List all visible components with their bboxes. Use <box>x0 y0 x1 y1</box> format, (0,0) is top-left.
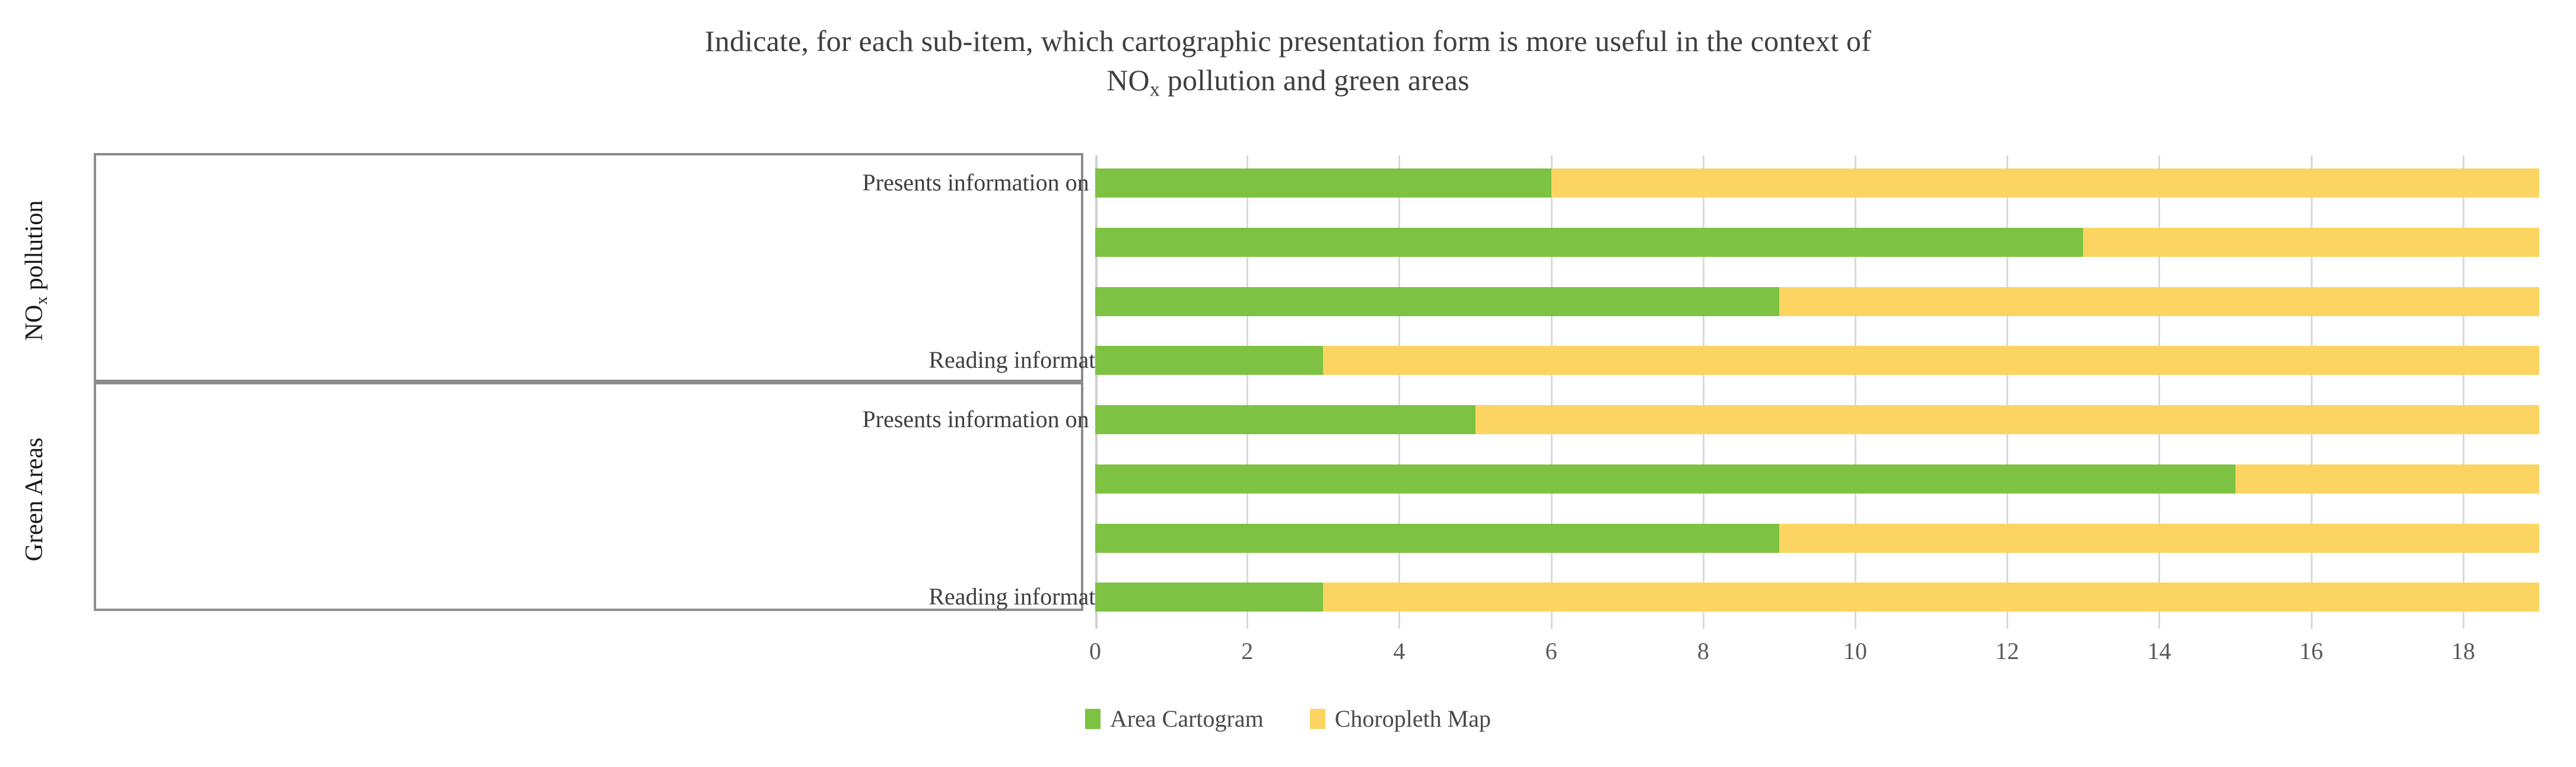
legend: Area CartogramChoropleth Map <box>0 707 2576 731</box>
x-tick-label-14: 14 <box>2123 637 2195 665</box>
legend-label: Area Cartogram <box>1110 707 1264 731</box>
bar-segment-choropleth-map[interactable] <box>2235 464 2539 494</box>
bar-row[interactable] <box>1095 405 2539 434</box>
x-tick-label-10: 10 <box>1820 637 1891 665</box>
bar-segment-choropleth-map[interactable] <box>1475 405 2539 434</box>
bar-segment-area-cartogram[interactable] <box>1095 228 2083 257</box>
square-swatch-icon <box>1085 709 1101 729</box>
bar-segment-choropleth-map[interactable] <box>1323 346 2539 375</box>
bar-row[interactable] <box>1095 228 2539 257</box>
x-tick-label-2: 2 <box>1211 637 1283 665</box>
value-axis-line <box>1095 155 1098 629</box>
gridline-18 <box>2463 155 2464 629</box>
group-axis-title-nox-suffix: pollution <box>21 200 48 297</box>
gridline-4 <box>1398 155 1400 629</box>
group-axis-title-nox-text: NO <box>21 305 48 341</box>
bar-segment-choropleth-map[interactable] <box>1779 524 2539 553</box>
gridline-2 <box>1246 155 1248 629</box>
group-axis-title-green-areas: Green Areas <box>20 385 49 614</box>
bar-segment-choropleth-map[interactable] <box>2083 228 2539 257</box>
x-tick-label-12: 12 <box>1971 637 2043 665</box>
plot-area <box>1095 155 2539 629</box>
bar-row[interactable] <box>1095 583 2539 612</box>
x-tick-label-18: 18 <box>2428 637 2499 665</box>
bar-segment-area-cartogram[interactable] <box>1095 464 2235 494</box>
legend-item-area-cartogram[interactable]: Area Cartogram <box>1085 707 1264 731</box>
bar-segment-area-cartogram[interactable] <box>1095 168 1551 198</box>
bar-segment-area-cartogram[interactable] <box>1095 583 1323 612</box>
x-tick-label-0: 0 <box>1060 637 1131 665</box>
bar-segment-area-cartogram[interactable] <box>1095 524 1779 553</box>
bar-row[interactable] <box>1095 168 2539 198</box>
bar-segment-area-cartogram[interactable] <box>1095 287 1779 316</box>
bar-segment-choropleth-map[interactable] <box>1551 168 2539 198</box>
bar-row[interactable] <box>1095 524 2539 553</box>
chart-body: NOx pollution Green Areas Presents infor… <box>0 0 2576 767</box>
bar-row[interactable] <box>1095 346 2539 375</box>
gridline-10 <box>1855 155 1856 629</box>
bar-segment-choropleth-map[interactable] <box>1779 287 2539 316</box>
x-tick-label-4: 4 <box>1363 637 1435 665</box>
group-axis-title-green-text: Green Areas <box>21 438 48 562</box>
bar-segment-choropleth-map[interactable] <box>1323 583 2539 612</box>
square-swatch-icon <box>1310 709 1325 729</box>
x-tick-label-6: 6 <box>1516 637 1587 665</box>
bar-row[interactable] <box>1095 287 2539 316</box>
gridline-16 <box>2311 155 2313 629</box>
gridline-12 <box>2006 155 2008 629</box>
bar-row[interactable] <box>1095 464 2539 494</box>
legend-label: Choropleth Map <box>1335 707 1491 731</box>
bar-segment-area-cartogram[interactable] <box>1095 405 1475 434</box>
group-axis-title-nox-subscript: x <box>33 297 51 305</box>
bar-segment-area-cartogram[interactable] <box>1095 346 1323 375</box>
gridline-8 <box>1703 155 1704 629</box>
gridline-14 <box>2158 155 2160 629</box>
group-axis-title-nox-pollution: NOx pollution <box>20 156 49 385</box>
x-tick-label-16: 16 <box>2276 637 2347 665</box>
legend-item-choropleth-map[interactable]: Choropleth Map <box>1310 707 1491 731</box>
x-tick-label-8: 8 <box>1668 637 1739 665</box>
gridline-6 <box>1551 155 1553 629</box>
